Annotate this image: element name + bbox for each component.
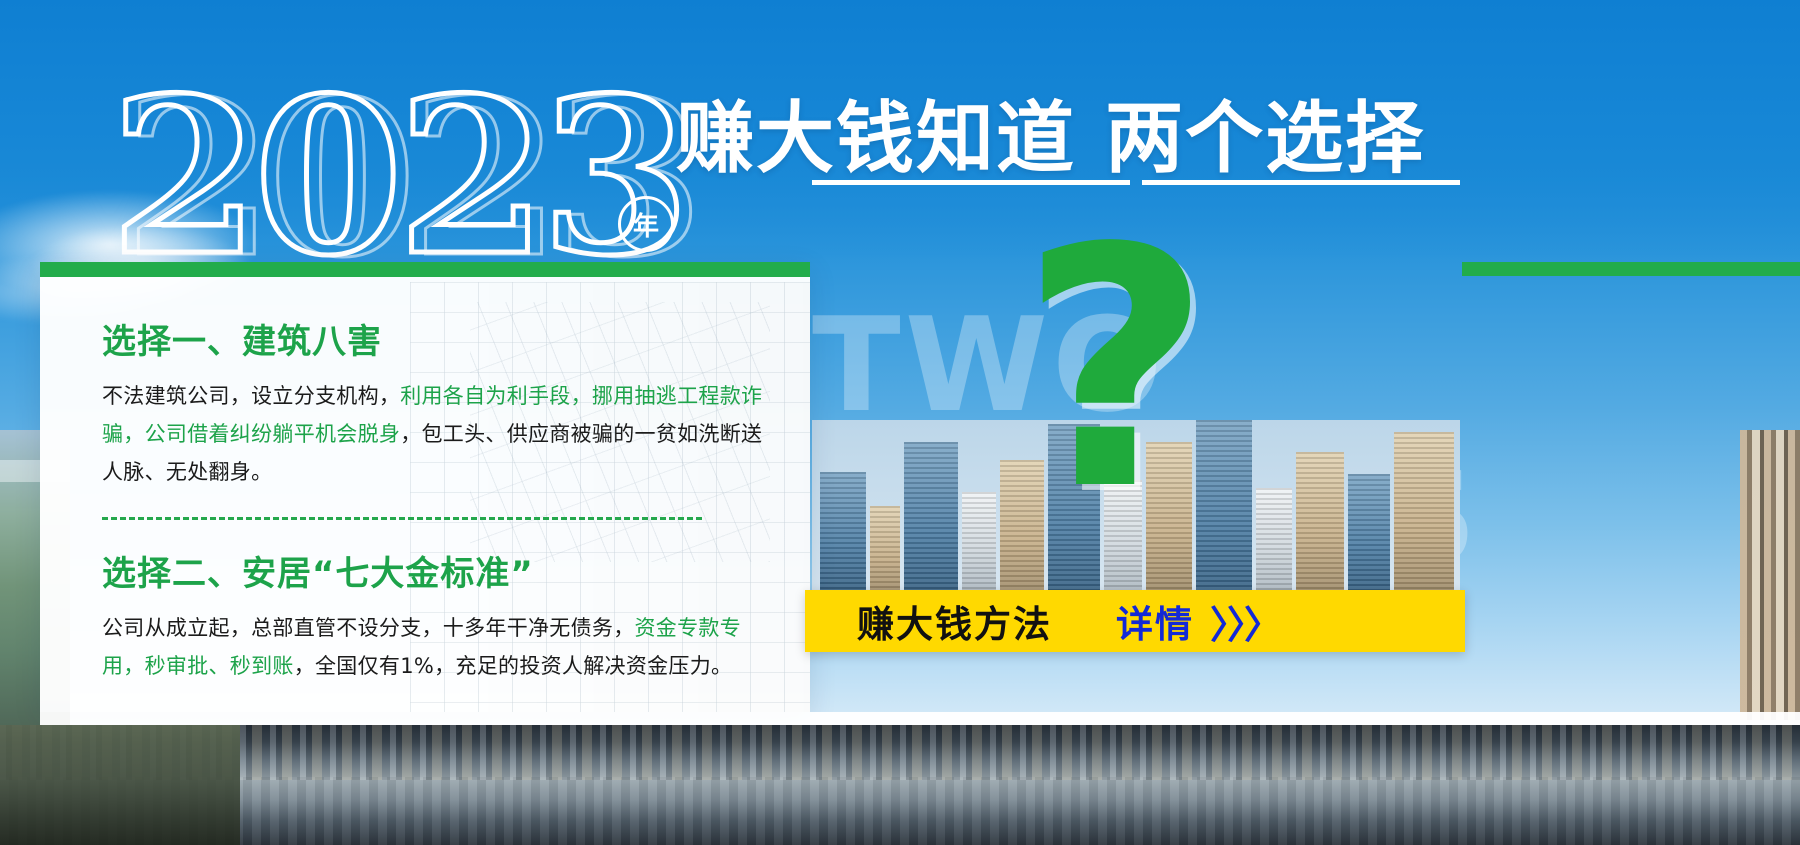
headline: 赚大钱知道 两个选择 [676, 76, 1425, 188]
section-two-text-c: ，全国仅有1%，充足的投资人解决资金压力。 [294, 654, 733, 678]
section-one-text-a: 不法建筑公司，设立分支机构， [102, 384, 400, 408]
bottom-buildings [0, 725, 1800, 780]
bottom-left-greenery [0, 725, 240, 845]
year-graphic: 2023 2023 [110, 62, 690, 292]
right-buildings-photo [1740, 430, 1800, 720]
question-mark-icon: ? [1020, 205, 1211, 535]
year-outline-shadow: 2023 [124, 64, 698, 294]
cta-bar[interactable]: 赚大钱方法 详情 〉〉〉 [805, 590, 1465, 652]
chevron-right-icon: 〉〉〉 [1210, 594, 1280, 649]
promo-banner: TWO CHOICES 2023 2023 年 赚大钱知道 两个选择 ? 选择一… [0, 0, 1800, 845]
cta-label: 赚大钱方法 [857, 594, 1052, 648]
content-card: 选择一、建筑八害 不法建筑公司，设立分支机构，利用各自为利手段，挪用抽逃工程款诈… [40, 262, 810, 712]
year-unit-badge: 年 [618, 196, 674, 252]
white-bottom-band [40, 712, 1800, 726]
water-reflection [0, 777, 1800, 845]
green-accent-bar-right [1462, 262, 1800, 276]
card-dashed-divider [102, 517, 702, 520]
section-one-body: 不法建筑公司，设立分支机构，利用各自为利手段，挪用抽逃工程款诈骗，公司借着纠纷躺… [102, 377, 774, 491]
bottom-city-water-photo [0, 725, 1800, 845]
section-one-title: 选择一、建筑八害 [102, 314, 776, 363]
cta-action-link[interactable]: 详情 [1116, 594, 1194, 648]
section-two-body: 公司从成立起，总部直管不设分支，十多年干净无债务，资金专款专用，秒审批、秒到账，… [102, 609, 774, 685]
section-two-text-a: 公司从成立起，总部直管不设分支，十多年干净无债务， [102, 616, 635, 640]
section-two-title: 选择二、安居“七大金标准” [102, 546, 776, 595]
